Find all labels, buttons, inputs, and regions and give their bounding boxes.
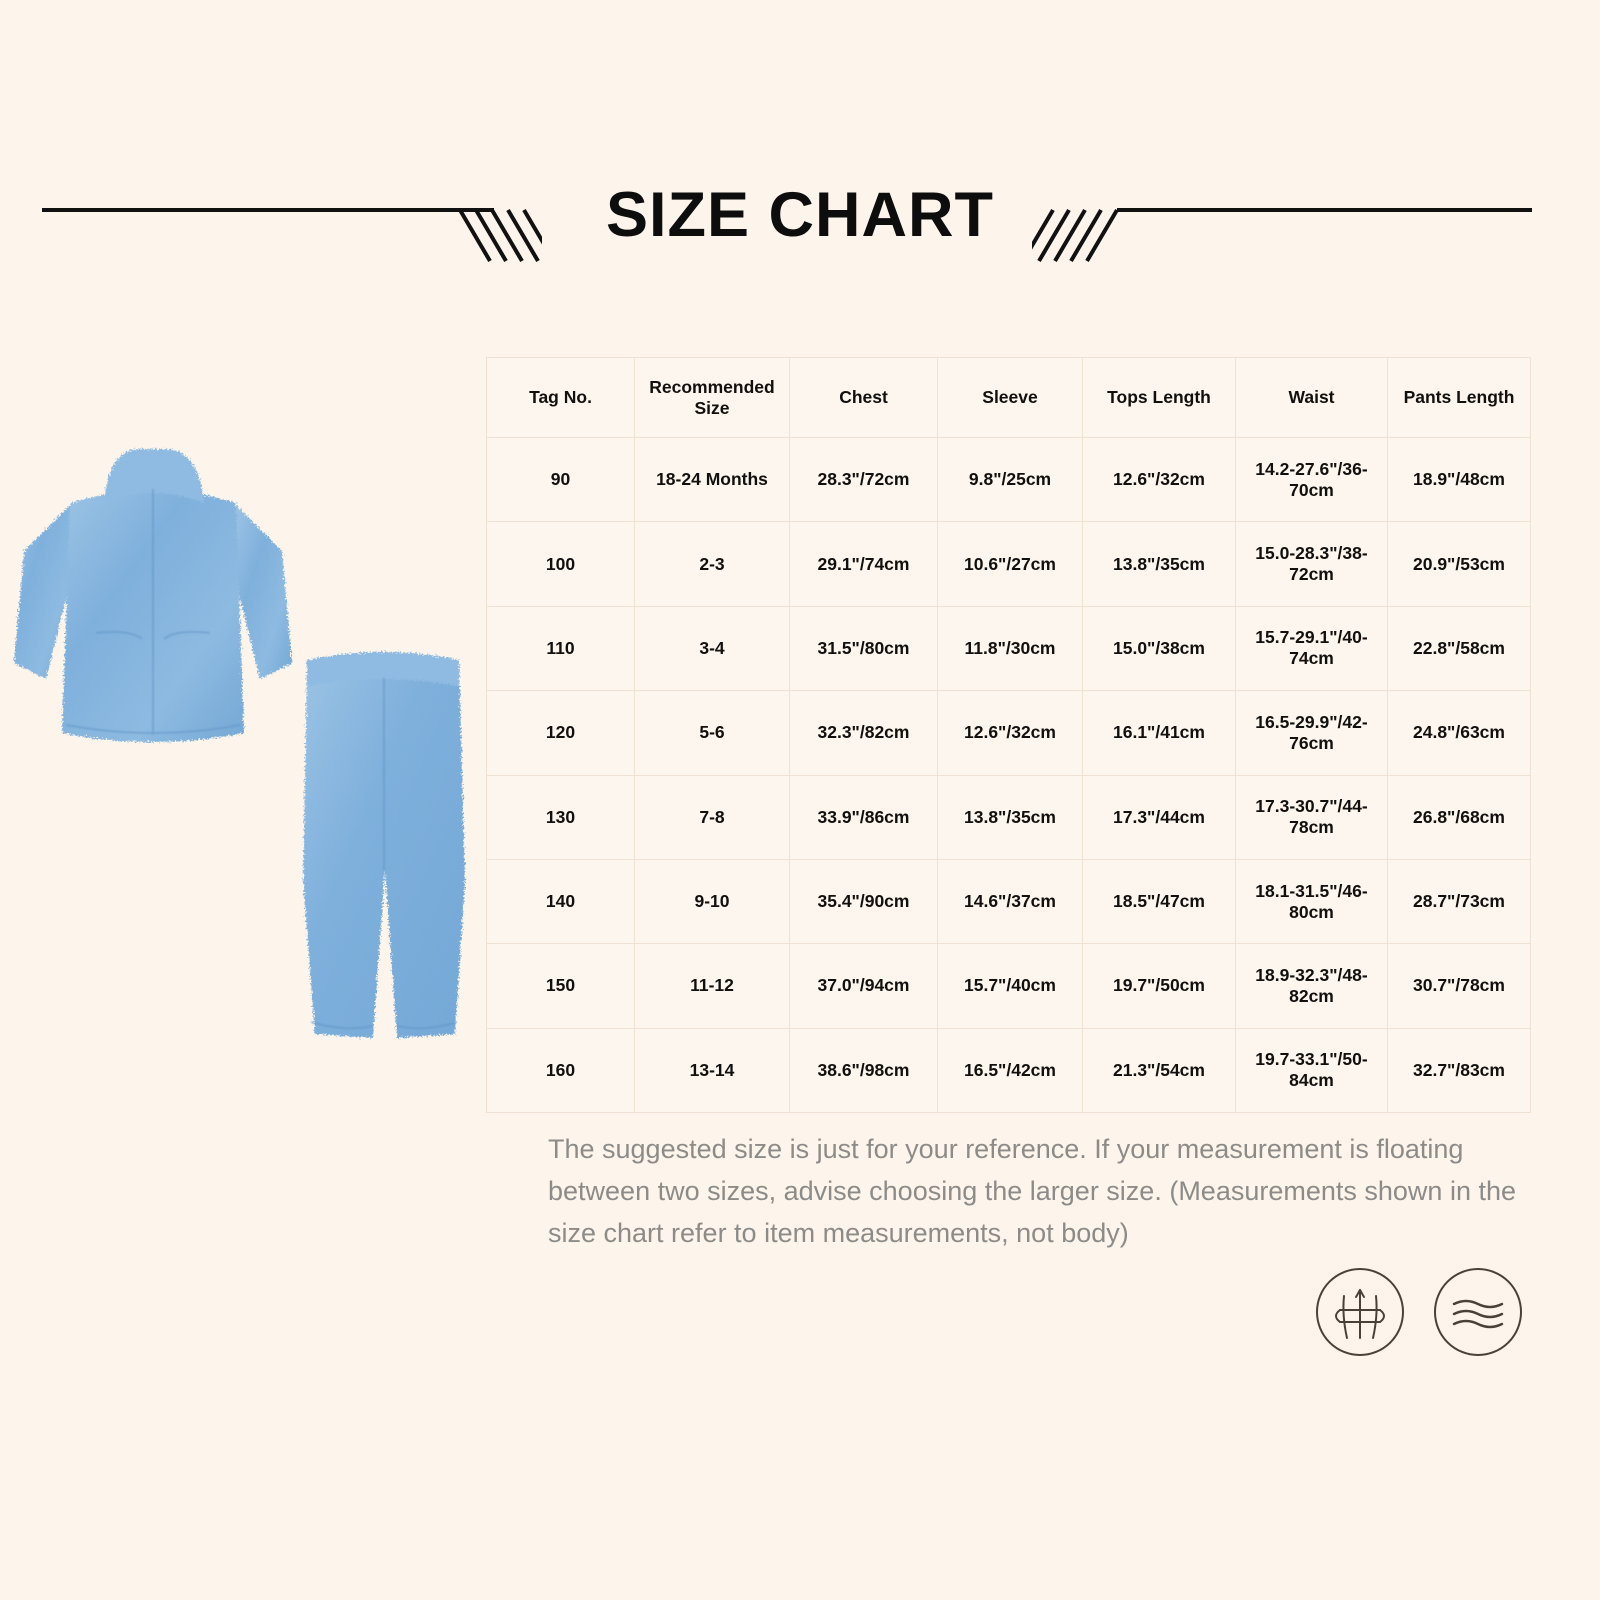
cell-waist: 18.1-31.5"/46-80cm: [1236, 859, 1388, 943]
size-disclaimer-note: The suggested size is just for your refe…: [548, 1128, 1528, 1254]
cell-tops-length: 15.0"/38cm: [1083, 606, 1236, 690]
table-row: 1307-833.9"/86cm13.8"/35cm17.3"/44cm17.3…: [487, 775, 1531, 859]
table-row: 15011-1237.0"/94cm15.7"/40cm19.7"/50cm18…: [487, 944, 1531, 1028]
cell-waist: 15.7-29.1"/40-74cm: [1236, 606, 1388, 690]
cell-chest: 35.4"/90cm: [790, 859, 938, 943]
decorative-rule-right: [1032, 165, 1532, 265]
cell-waist: 18.9-32.3"/48-82cm: [1236, 944, 1388, 1028]
column-header-chest: Chest: [790, 358, 938, 438]
column-header-tops-length: Tops Length: [1083, 358, 1236, 438]
cell-pants-length: 18.9"/48cm: [1388, 438, 1531, 522]
jacket-image: [8, 433, 298, 763]
cell-tag-no: 100: [487, 522, 635, 606]
cell-tag-no: 160: [487, 1028, 635, 1112]
cell-tag-no: 140: [487, 859, 635, 943]
table-header-row: Tag No. Recommended Size Chest Sleeve To…: [487, 358, 1531, 438]
cell-pants-length: 26.8"/68cm: [1388, 775, 1531, 859]
table-row: 1002-329.1"/74cm10.6"/27cm13.8"/35cm15.0…: [487, 522, 1531, 606]
cell-tops-length: 19.7"/50cm: [1083, 944, 1236, 1028]
cell-tops-length: 16.1"/41cm: [1083, 691, 1236, 775]
cell-sleeve: 15.7"/40cm: [938, 944, 1083, 1028]
cell-tag-no: 110: [487, 606, 635, 690]
cell-sleeve: 16.5"/42cm: [938, 1028, 1083, 1112]
cell-sleeve: 10.6"/27cm: [938, 522, 1083, 606]
cell-waist: 19.7-33.1"/50-84cm: [1236, 1028, 1388, 1112]
cell-waist: 17.3-30.7"/44-78cm: [1236, 775, 1388, 859]
column-header-sleeve: Sleeve: [938, 358, 1083, 438]
cell-tag-no: 150: [487, 944, 635, 1028]
column-header-pants-length: Pants Length: [1388, 358, 1531, 438]
cell-tops-length: 13.8"/35cm: [1083, 522, 1236, 606]
table-row: 1103-431.5"/80cm11.8"/30cm15.0"/38cm15.7…: [487, 606, 1531, 690]
cell-sleeve: 12.6"/32cm: [938, 691, 1083, 775]
cell-recommended-size: 11-12: [635, 944, 790, 1028]
cell-sleeve: 14.6"/37cm: [938, 859, 1083, 943]
cell-chest: 38.6"/98cm: [790, 1028, 938, 1112]
title-band: SIZE CHART: [0, 165, 1600, 265]
table-row: 16013-1438.6"/98cm16.5"/42cm21.3"/54cm19…: [487, 1028, 1531, 1112]
table-row: 9018-24 Months28.3"/72cm9.8"/25cm12.6"/3…: [487, 438, 1531, 522]
table-row: 1205-632.3"/82cm12.6"/32cm16.1"/41cm16.5…: [487, 691, 1531, 775]
cell-recommended-size: 13-14: [635, 1028, 790, 1112]
cell-waist: 16.5-29.9"/42-76cm: [1236, 691, 1388, 775]
cell-chest: 37.0"/94cm: [790, 944, 938, 1028]
cell-chest: 29.1"/74cm: [790, 522, 938, 606]
cell-waist: 14.2-27.6"/36-70cm: [1236, 438, 1388, 522]
table-row: 1409-1035.4"/90cm14.6"/37cm18.5"/47cm18.…: [487, 859, 1531, 943]
cell-pants-length: 20.9"/53cm: [1388, 522, 1531, 606]
cell-pants-length: 22.8"/58cm: [1388, 606, 1531, 690]
cell-pants-length: 28.7"/73cm: [1388, 859, 1531, 943]
cell-recommended-size: 2-3: [635, 522, 790, 606]
pants-image: [285, 630, 480, 1055]
column-header-recommended-size: Recommended Size: [635, 358, 790, 438]
cell-recommended-size: 5-6: [635, 691, 790, 775]
cell-chest: 32.3"/82cm: [790, 691, 938, 775]
cell-tops-length: 12.6"/32cm: [1083, 438, 1236, 522]
cell-tops-length: 21.3"/54cm: [1083, 1028, 1236, 1112]
cell-tag-no: 120: [487, 691, 635, 775]
cell-sleeve: 9.8"/25cm: [938, 438, 1083, 522]
water-waves-icon: [1428, 1262, 1528, 1362]
fabric-weave-icon: [1310, 1262, 1410, 1362]
cell-sleeve: 11.8"/30cm: [938, 606, 1083, 690]
cell-tops-length: 17.3"/44cm: [1083, 775, 1236, 859]
cell-pants-length: 24.8"/63cm: [1388, 691, 1531, 775]
cell-pants-length: 30.7"/78cm: [1388, 944, 1531, 1028]
size-chart-table: Tag No. Recommended Size Chest Sleeve To…: [486, 357, 1531, 1113]
cell-tag-no: 130: [487, 775, 635, 859]
cell-recommended-size: 3-4: [635, 606, 790, 690]
column-header-waist: Waist: [1236, 358, 1388, 438]
feature-badge-row: [1310, 1262, 1530, 1366]
cell-chest: 31.5"/80cm: [790, 606, 938, 690]
column-header-tag-no: Tag No.: [487, 358, 635, 438]
cell-recommended-size: 9-10: [635, 859, 790, 943]
cell-sleeve: 13.8"/35cm: [938, 775, 1083, 859]
cell-chest: 28.3"/72cm: [790, 438, 938, 522]
cell-tag-no: 90: [487, 438, 635, 522]
cell-chest: 33.9"/86cm: [790, 775, 938, 859]
product-image-group: [0, 415, 470, 1065]
table-body: 9018-24 Months28.3"/72cm9.8"/25cm12.6"/3…: [487, 438, 1531, 1113]
cell-tops-length: 18.5"/47cm: [1083, 859, 1236, 943]
cell-recommended-size: 7-8: [635, 775, 790, 859]
cell-recommended-size: 18-24 Months: [635, 438, 790, 522]
cell-waist: 15.0-28.3"/38-72cm: [1236, 522, 1388, 606]
cell-pants-length: 32.7"/83cm: [1388, 1028, 1531, 1112]
